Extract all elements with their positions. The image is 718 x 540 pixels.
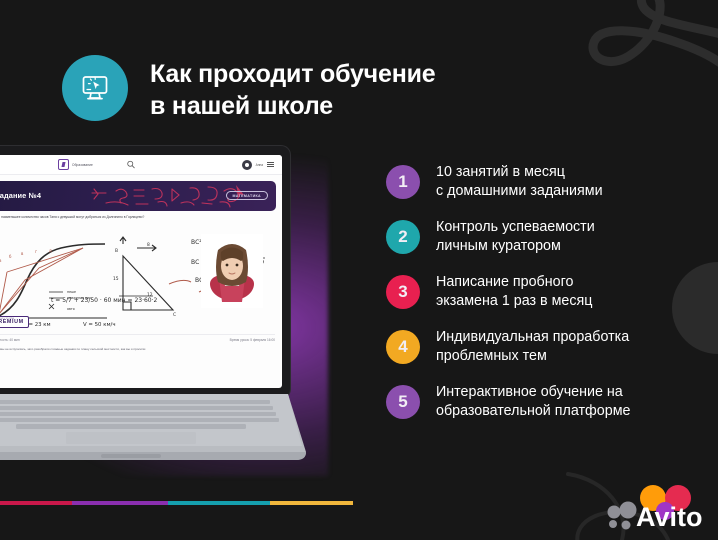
slide-header: Как проходит обучение в нашей школе xyxy=(62,55,435,122)
lesson-duration: Длительность: 40 мин xyxy=(0,338,20,342)
list-item-label: Написание пробного экзамена 1 раз в меся… xyxy=(436,273,592,311)
handwritten-solution-lower: t = 5/7 + 23/50 · 60 мин = 23·60·2 / 50·… xyxy=(7,286,157,330)
lesson-time: Время урока: 5 февраля 16:00 xyxy=(230,338,275,342)
task-banner: Задание №4 МАТЕМАТИКА xyxy=(0,181,276,211)
site-logo-label: Образование xyxy=(72,163,93,167)
svg-text:t = 5/7 + 23/50 · 60 мин = 23·: t = 5/7 + 23/50 · 60 мин = 23·60·2 / 50·… xyxy=(51,297,157,304)
strip-segment xyxy=(72,501,168,505)
list-item: 3 Написание пробного экзамена 1 раз в ме… xyxy=(386,273,686,311)
loop-decoration xyxy=(586,0,718,136)
monitor-cursor-icon xyxy=(62,55,128,121)
laptop-lid: Образование Анна xyxy=(0,146,290,398)
list-item: 1 10 занятий в месяц с домашними задания… xyxy=(386,163,686,201)
subject-badge: МАТЕМАТИКА xyxy=(226,191,268,200)
page-title: Как проходит обучение в нашей школе xyxy=(150,58,435,122)
svg-text:б: б xyxy=(9,254,12,259)
list-item-label: Контроль успеваемости личным куратором xyxy=(436,218,595,256)
list-item: 5 Интерактивное обучение на образователь… xyxy=(386,383,686,421)
svg-text:8: 8 xyxy=(147,242,150,248)
svg-text:15: 15 xyxy=(113,276,119,282)
svg-text:г: г xyxy=(35,249,37,254)
premium-label: PREMIUM xyxy=(0,320,24,325)
svg-text:a: a xyxy=(0,258,2,263)
svg-text:С: С xyxy=(173,312,176,318)
laptop-base xyxy=(0,394,306,466)
laptop-mockup: Образование Анна xyxy=(0,146,316,466)
list-item-label: 10 занятий в месяц с домашними заданиями xyxy=(436,163,603,201)
lesson-footnote: В офисе мы не испугались, зато разобрали… xyxy=(0,347,275,351)
svg-text:В: В xyxy=(115,248,118,254)
hamburger-icon[interactable] xyxy=(267,162,274,167)
lesson-meta: Длительность: 40 мин Время урока: 5 февр… xyxy=(0,334,275,342)
slide-canvas: Как проходит обучение в нашей школе 1 10… xyxy=(0,0,718,540)
task-description: За какое наименьшее количество часов Тан… xyxy=(0,215,275,219)
student-video-thumbnail xyxy=(201,234,263,308)
premium-badge: МАСТЕР-ГРУППА PREMIUM xyxy=(0,316,29,329)
color-strip xyxy=(0,501,353,505)
laptop-screen: Образование Анна xyxy=(0,155,282,388)
task-title: Задание №4 xyxy=(0,191,41,200)
list-item-label: Индивидуальная проработка проблемных тем xyxy=(436,328,629,366)
site-logo: Образование xyxy=(58,159,93,170)
list-item-number: 1 xyxy=(386,165,420,199)
svg-text:д: д xyxy=(49,248,52,253)
worksheet-area: aбв гд 246 пешедвижение рекавто xyxy=(0,222,275,330)
avatar xyxy=(242,160,252,170)
site-user-area[interactable]: Анна xyxy=(242,160,274,170)
list-item-label: Интерактивное обучение на образовательно… xyxy=(436,383,630,421)
list-item-number: 5 xyxy=(386,385,420,419)
strip-segment xyxy=(168,501,271,505)
search-icon[interactable] xyxy=(127,156,136,174)
benefits-list: 1 10 занятий в месяц с домашними задания… xyxy=(386,163,686,438)
list-item-number: 3 xyxy=(386,275,420,309)
list-item: 4 Индивидуальная проработка проблемных т… xyxy=(386,328,686,366)
list-item-number: 2 xyxy=(386,220,420,254)
svg-text:Avito: Avito xyxy=(636,502,703,530)
logo-mark-icon xyxy=(58,159,69,170)
site-header: Образование Анна xyxy=(0,155,282,175)
strip-segment xyxy=(0,501,72,505)
user-name-label: Анна xyxy=(256,163,263,167)
svg-text:в: в xyxy=(21,251,24,256)
avito-logo: Avito xyxy=(606,484,710,530)
list-item-number: 4 xyxy=(386,330,420,364)
list-item: 2 Контроль успеваемости личным куратором xyxy=(386,218,686,256)
strip-segment xyxy=(270,501,353,505)
